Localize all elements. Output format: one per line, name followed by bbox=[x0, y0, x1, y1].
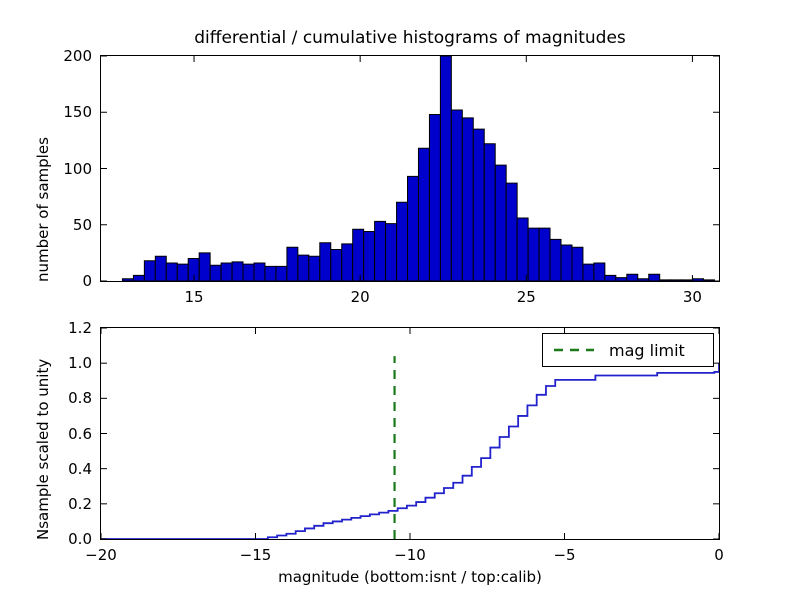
histogram-bar bbox=[210, 265, 221, 281]
histogram-bar bbox=[550, 239, 561, 281]
histogram-bar bbox=[682, 280, 693, 281]
histogram-bar bbox=[627, 274, 638, 281]
top-y-tick-label: 150 bbox=[40, 103, 92, 121]
histogram-bar bbox=[221, 263, 232, 281]
histogram-bar bbox=[320, 243, 331, 281]
histogram-bar bbox=[660, 280, 671, 281]
bottom-y-axis-label: Nsample scaled to unity bbox=[34, 359, 52, 540]
histogram-bar bbox=[594, 263, 605, 281]
histogram-bar bbox=[484, 144, 495, 281]
histogram-bar bbox=[232, 262, 243, 281]
bottom-y-tick-label: 1.2 bbox=[30, 319, 92, 337]
histogram-bar bbox=[254, 263, 265, 281]
top-y-tick-label: 200 bbox=[40, 47, 92, 65]
bottom-x-axis-label: magnitude (bottom:isnt / top:calib) bbox=[100, 568, 720, 586]
histogram-bar bbox=[429, 115, 440, 282]
histogram-bar bbox=[462, 118, 473, 281]
top-x-tick-label: 20 bbox=[351, 288, 370, 306]
bottom-x-tick-label: −15 bbox=[240, 546, 272, 564]
histogram-bar bbox=[473, 129, 484, 281]
histogram-bar bbox=[638, 279, 649, 281]
histogram-bar bbox=[693, 279, 704, 281]
histogram-bar bbox=[506, 183, 517, 281]
histogram-bar bbox=[331, 250, 342, 282]
mag-limit-line-icon bbox=[553, 343, 595, 357]
histogram-bar bbox=[408, 176, 419, 281]
histogram-bar bbox=[440, 56, 451, 281]
histogram-bar bbox=[397, 202, 408, 281]
top-y-axis-label: number of samples bbox=[34, 137, 52, 282]
top-plot-canvas bbox=[101, 56, 719, 281]
histogram-bar bbox=[375, 221, 386, 281]
cumulative-curve bbox=[101, 363, 719, 539]
histogram-bar bbox=[605, 275, 616, 281]
histogram-bar bbox=[309, 256, 320, 281]
histogram-bar bbox=[133, 275, 144, 281]
histogram-bar bbox=[287, 247, 298, 281]
top-x-tick-label: 30 bbox=[683, 288, 702, 306]
histogram-bar bbox=[451, 110, 462, 281]
histogram-bar bbox=[155, 256, 166, 281]
histogram-bar bbox=[671, 280, 682, 281]
histogram-bar bbox=[704, 280, 715, 281]
histogram-bar bbox=[386, 224, 397, 281]
top-x-tick-label: 15 bbox=[184, 288, 203, 306]
histogram-bar bbox=[528, 228, 539, 281]
bottom-x-tick-label: −10 bbox=[394, 546, 426, 564]
bottom-x-tick-label: 0 bbox=[714, 546, 724, 564]
histogram-bar bbox=[265, 266, 276, 281]
histogram-bar bbox=[561, 245, 572, 281]
histogram-bar bbox=[583, 264, 594, 281]
bottom-x-tick-label: −5 bbox=[553, 546, 575, 564]
histogram-bar bbox=[342, 244, 353, 281]
top-axes-histogram bbox=[100, 55, 720, 282]
histogram-bar bbox=[616, 278, 627, 281]
histogram-bar bbox=[166, 263, 177, 281]
histogram-bar bbox=[298, 255, 309, 281]
histogram-bar bbox=[418, 148, 429, 281]
histogram-bar bbox=[199, 253, 210, 281]
legend-label-mag-limit: mag limit bbox=[609, 341, 685, 360]
histogram-bar bbox=[276, 266, 287, 281]
histogram-bar bbox=[177, 264, 188, 281]
histogram-bar bbox=[572, 247, 583, 281]
matplotlib-figure: differential / cumulative histograms of … bbox=[0, 0, 800, 600]
histogram-bar bbox=[517, 218, 528, 281]
histogram-bar bbox=[243, 264, 254, 281]
bottom-x-tick-label: −20 bbox=[85, 546, 117, 564]
histogram-bar bbox=[649, 274, 660, 281]
histogram-bar bbox=[495, 165, 506, 281]
histogram-bar bbox=[353, 229, 364, 281]
histogram-bar bbox=[144, 261, 155, 281]
histogram-bar bbox=[539, 228, 550, 281]
top-x-tick-label: 25 bbox=[517, 288, 536, 306]
histogram-bar bbox=[122, 279, 133, 281]
figure-title: differential / cumulative histograms of … bbox=[100, 28, 720, 48]
histogram-bar bbox=[364, 232, 375, 282]
legend[interactable]: mag limit bbox=[542, 333, 714, 367]
